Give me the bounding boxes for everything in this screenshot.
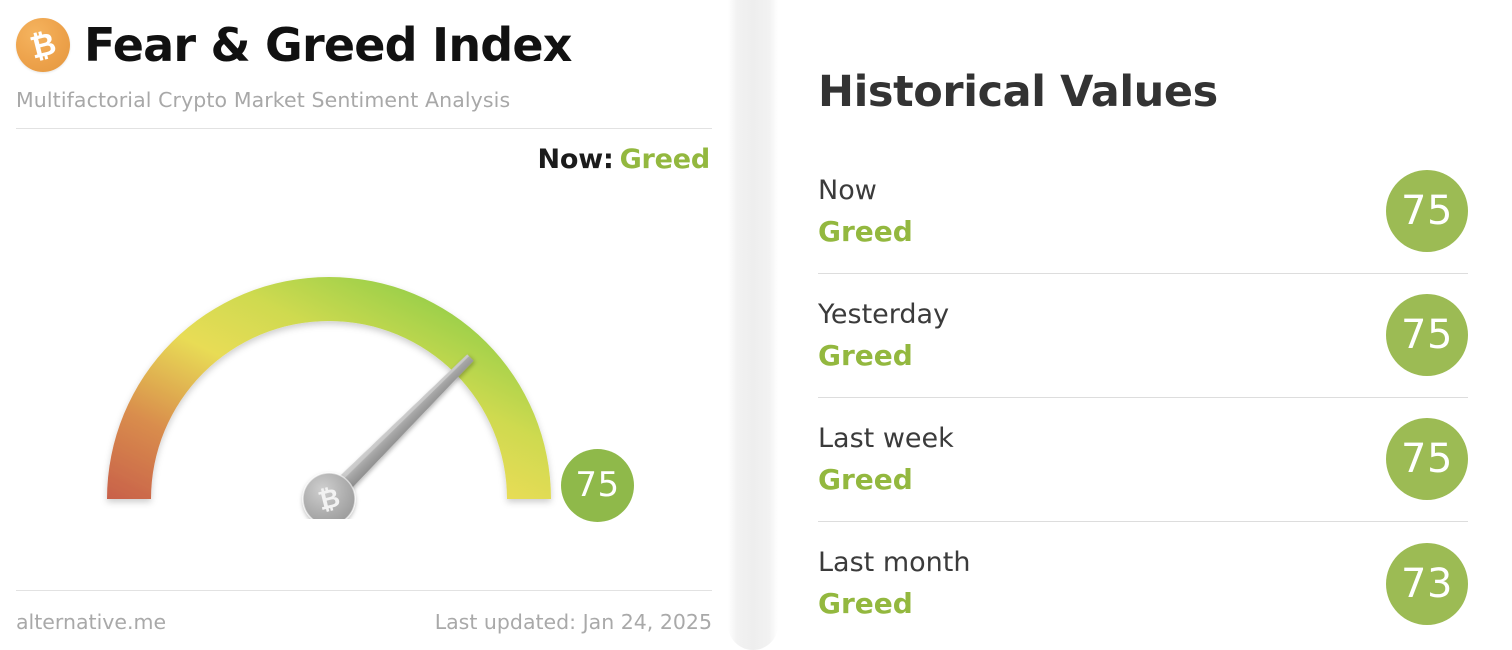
classification-label: Greed (818, 466, 954, 494)
header-divider (16, 128, 712, 129)
now-status-label: Now: (537, 144, 613, 175)
list-item: Last week Greed 75 (818, 398, 1468, 522)
footer-divider (16, 590, 712, 591)
period-label: Last week (818, 425, 954, 452)
list-item: Now Greed 75 (818, 150, 1468, 274)
fear-greed-widget: ₿ Fear & Greed Index Multifactorial Cryp… (0, 0, 1512, 650)
status-badge: 75 (1386, 170, 1468, 252)
list-item: Last month Greed 73 (818, 522, 1468, 646)
card-footer: alternative.me Last updated: Jan 24, 202… (16, 612, 712, 633)
period-label: Last month (818, 549, 970, 576)
list-item: Yesterday Greed 75 (818, 274, 1468, 398)
now-status-value: Greed (620, 144, 710, 175)
period-label: Now (818, 177, 913, 204)
brand-row: ₿ Fear & Greed Index (16, 0, 712, 76)
classification-label: Greed (818, 342, 949, 370)
gauge-card: ₿ Fear & Greed Index Multifactorial Cryp… (0, 0, 728, 650)
status-badge: 75 (1386, 294, 1468, 376)
classification-label: Greed (818, 590, 970, 618)
svg-text:₿: ₿ (27, 25, 60, 66)
fear-greed-gauge: ₿ (84, 179, 644, 519)
panel-divider (728, 0, 778, 650)
gauge-hub: ₿ (303, 473, 355, 519)
page-title: Fear & Greed Index (84, 22, 572, 68)
status-badge: 75 (1386, 418, 1468, 500)
historical-values-panel: Historical Values Now Greed 75 Yesterday… (778, 0, 1512, 650)
historical-values-title: Historical Values (818, 36, 1468, 114)
gauge-container: ₿ 75 (16, 179, 712, 579)
period-label: Yesterday (818, 301, 949, 328)
last-updated-text: Last updated: Jan 24, 2025 (435, 612, 712, 633)
status-badge: 73 (1386, 543, 1468, 625)
source-link[interactable]: alternative.me (16, 612, 166, 633)
gauge-value-badge: 75 (561, 449, 634, 522)
classification-label: Greed (818, 218, 913, 246)
now-status: Now:Greed (16, 146, 712, 173)
gauge-arc (107, 277, 551, 499)
bitcoin-icon: ₿ (16, 18, 70, 72)
page-subtitle: Multifactorial Crypto Market Sentiment A… (16, 90, 712, 111)
historical-values-list: Now Greed 75 Yesterday Greed 75 Last wee… (818, 150, 1468, 646)
